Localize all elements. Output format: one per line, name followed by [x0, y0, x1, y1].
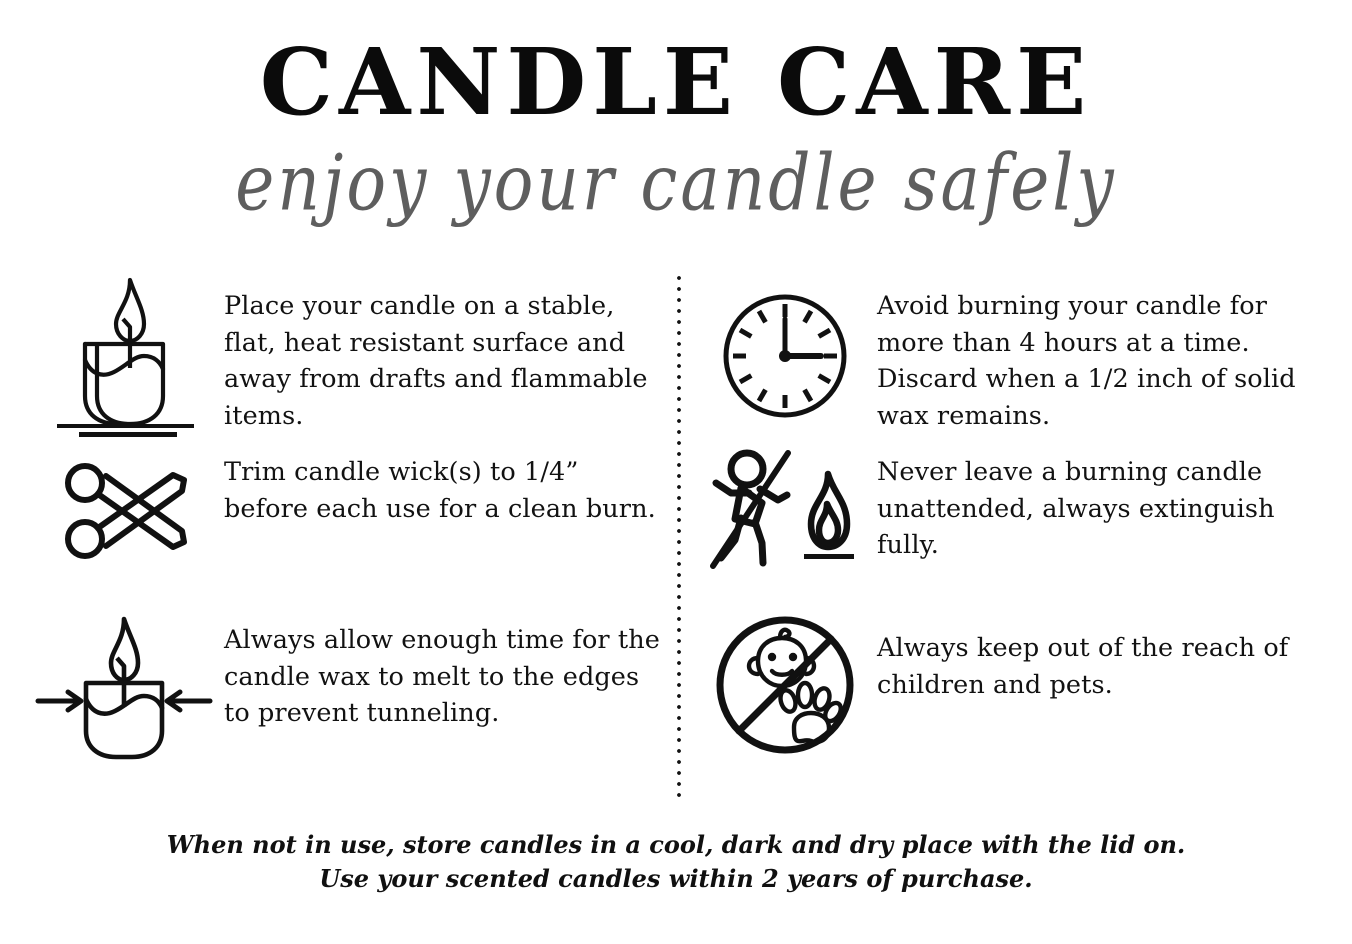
no-children-pets-icon — [710, 613, 860, 763]
footer-line-2: Use your scented candles within 2 years … — [0, 862, 1352, 896]
tip-item: Avoid burning your candle for more than … — [692, 272, 1328, 440]
icon-container — [24, 608, 224, 768]
tip-text: Always allow enough time for the candle … — [224, 608, 660, 732]
tip-item: Never leave a burning candle unattended,… — [692, 440, 1328, 608]
tip-item: Trim candle wick(s) to 1/4” before each … — [24, 440, 660, 608]
icon-container — [692, 608, 877, 768]
tip-text: Place your candle on a stable, flat, hea… — [224, 272, 660, 434]
column-divider — [677, 276, 681, 804]
tip-item: Always keep out of the reach of children… — [692, 608, 1328, 776]
footer-line-1: When not in use, store candles in a cool… — [0, 828, 1352, 862]
scissors-icon — [54, 454, 194, 566]
icon-container — [692, 440, 877, 580]
tip-text: Always keep out of the reach of children… — [877, 608, 1328, 703]
clock-icon — [720, 291, 850, 421]
candle-on-surface-icon — [44, 274, 204, 439]
right-column: Avoid burning your candle for more than … — [692, 272, 1328, 776]
tip-item: Place your candle on a stable, flat, hea… — [24, 272, 660, 440]
footer-note: When not in use, store candles in a cool… — [0, 828, 1352, 896]
candle-full-melt-pool-icon — [34, 611, 214, 766]
tip-text: Avoid burning your candle for more than … — [877, 272, 1328, 434]
tip-text: Never leave a burning candle unattended,… — [877, 440, 1328, 564]
no-unattended-flame-icon — [705, 448, 865, 573]
page-title: CANDLE CARE — [0, 0, 1352, 128]
candle-care-infographic: CANDLE CARE enjoy your candle safely — [0, 0, 1352, 944]
tips-columns: Place your candle on a stable, flat, hea… — [0, 272, 1352, 808]
left-column: Place your candle on a stable, flat, hea… — [24, 272, 660, 776]
page-subtitle: enjoy your candle safely — [0, 128, 1352, 222]
tip-text: Trim candle wick(s) to 1/4” before each … — [224, 440, 660, 527]
icon-container — [692, 272, 877, 440]
tip-item: Always allow enough time for the candle … — [24, 608, 660, 776]
icon-container — [24, 440, 224, 580]
header: CANDLE CARE enjoy your candle safely — [0, 0, 1352, 208]
icon-container — [24, 272, 224, 440]
